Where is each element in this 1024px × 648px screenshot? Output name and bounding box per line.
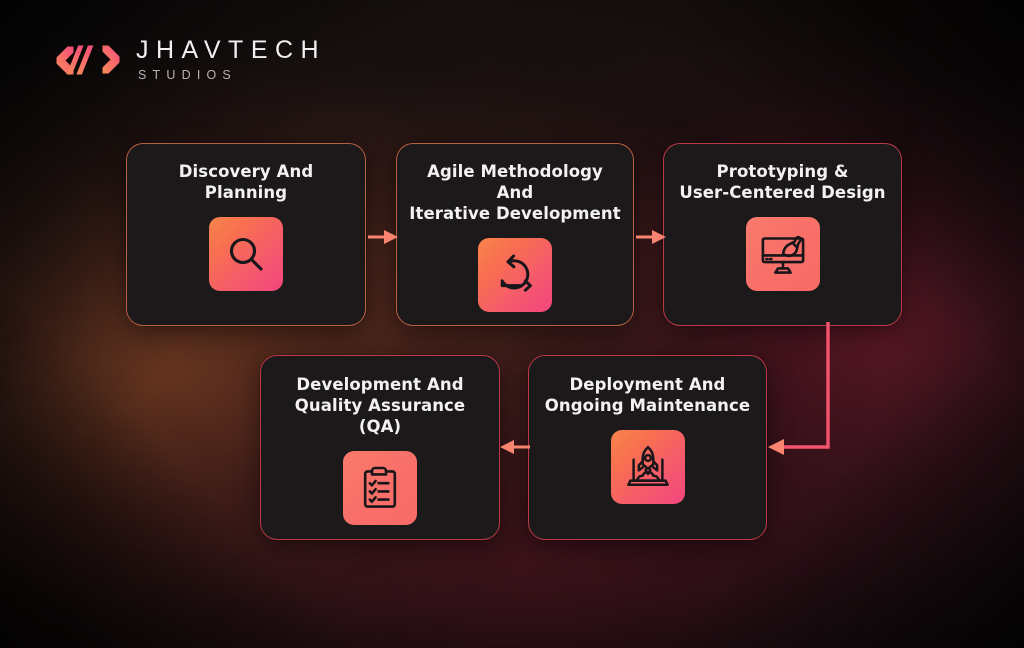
flow-step-icon-tile (478, 238, 552, 312)
connector-agile-to-prototyping (636, 226, 666, 248)
monitor-paintbrush-icon (759, 231, 807, 277)
flow-step-deployment-maintenance[interactable]: Deployment And Ongoing Maintenance (528, 355, 767, 540)
rocket-laptop-icon (624, 444, 672, 490)
diagram-canvas: JHAVTECH STUDIOS Discovery And Planning … (0, 0, 1024, 648)
flow-step-title: Discovery And Planning (169, 161, 324, 203)
flow-step-title: Development And Quality Assurance (QA) (261, 374, 499, 437)
flow-step-prototyping-design[interactable]: Prototyping & User-Centered Design (663, 143, 902, 326)
brand-name: JHAVTECH (136, 38, 326, 63)
elbow-arrow-down-left-icon (760, 322, 872, 462)
arrow-right-icon (636, 226, 666, 248)
connector-deployment-to-qa (500, 436, 530, 458)
flow-step-icon-tile (343, 451, 417, 525)
brand-logo: JHAVTECH STUDIOS (54, 36, 326, 84)
brand-wordmark: JHAVTECH STUDIOS (136, 38, 326, 82)
clipboard-checklist-icon (358, 465, 402, 511)
arrow-left-icon (500, 436, 530, 458)
connector-discovery-to-agile (368, 226, 398, 248)
flow-step-icon-tile (209, 217, 283, 291)
magnifier-icon (224, 232, 268, 276)
connector-prototyping-to-deployment (760, 322, 872, 462)
flow-step-title: Agile Methodology And Iterative Developm… (397, 161, 633, 224)
brand-tagline: STUDIOS (138, 69, 326, 82)
flow-step-development-qa[interactable]: Development And Quality Assurance (QA) (260, 355, 500, 540)
arrow-right-icon (368, 226, 398, 248)
flow-step-discovery-and-planning[interactable]: Discovery And Planning (126, 143, 366, 326)
agile-cycle-arrow-icon (492, 252, 538, 298)
flow-step-title: Prototyping & User-Centered Design (669, 161, 895, 203)
flow-step-icon-tile (746, 217, 820, 291)
jhavtech-chevron-mark-icon (54, 36, 122, 84)
flow-step-icon-tile (611, 430, 685, 504)
flow-step-title: Deployment And Ongoing Maintenance (535, 374, 760, 416)
flow-step-agile-methodology[interactable]: Agile Methodology And Iterative Developm… (396, 143, 634, 326)
